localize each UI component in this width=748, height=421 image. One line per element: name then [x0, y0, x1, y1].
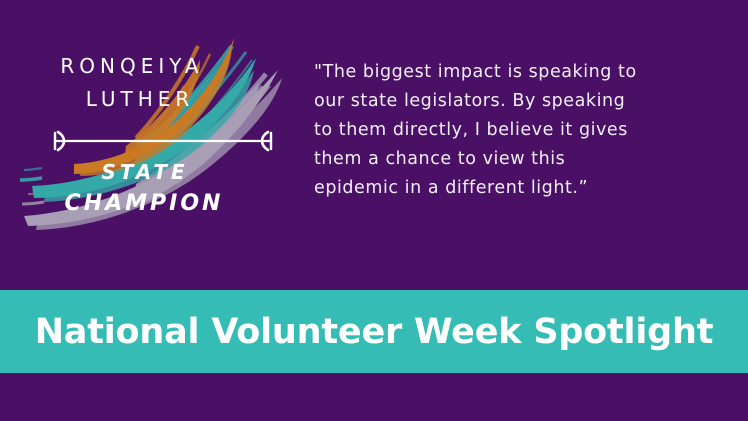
logo-subtitle-line-2: CHAMPION — [16, 191, 272, 216]
logo-text-layer: RONQEIYA LUTHER STATE CHAMPION — [16, 34, 306, 234]
quote-text: "The biggest impact is speaking to our s… — [314, 58, 734, 203]
logo-name-line-1: RONQEIYA — [16, 54, 248, 78]
spotlight-graphic: RONQEIYA LUTHER STATE CHAMPION "The bigg… — [0, 0, 748, 421]
banner-title: National Volunteer Week Spotlight — [0, 293, 748, 371]
logo-name-line-2: LUTHER — [16, 87, 264, 111]
state-champion-logo: RONQEIYA LUTHER STATE CHAMPION — [16, 34, 306, 234]
logo-subtitle-line-1: STATE — [16, 160, 274, 184]
bracket-divider-icon — [52, 128, 274, 154]
